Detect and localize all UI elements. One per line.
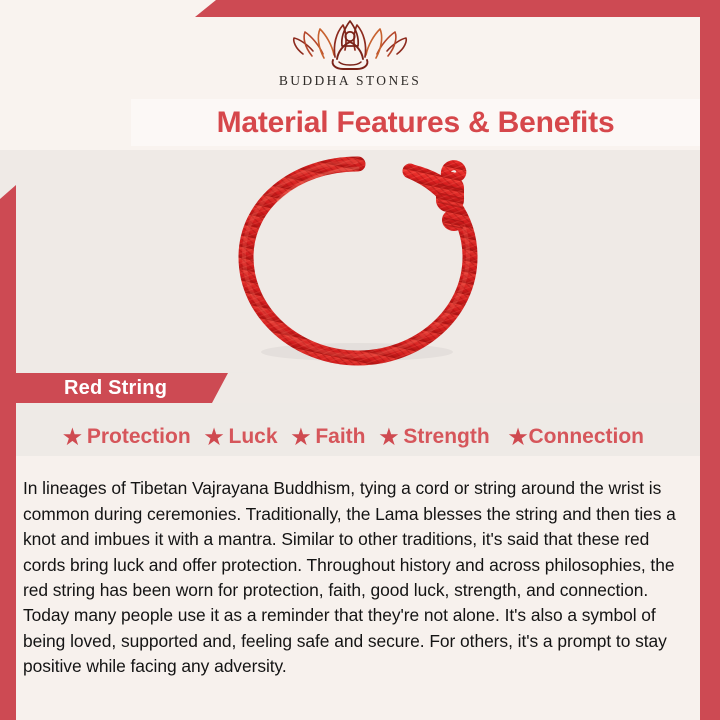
benefit-label: Protection [87,425,191,449]
material-label-banner: Red String [0,373,228,403]
title-banner: Material Features & Benefits [131,99,700,146]
brand-wordmark: BUDDHA STONES [0,73,700,89]
benefit-item-strength: ★ Strength [380,425,490,449]
benefit-item-luck: ★ Luck [205,425,278,449]
benefit-item-protection: ★ Protection [63,425,191,449]
benefit-label: Strength [403,425,489,449]
brand-logo: BUDDHA STONES [0,14,700,89]
right-accent-bar [700,17,720,720]
benefit-label: Faith [315,425,365,449]
bracelet-illustration [218,152,508,374]
benefit-item-faith: ★ Faith [292,425,366,449]
star-icon: ★ [292,427,311,448]
star-icon: ★ [63,427,82,448]
left-accent-bar [0,185,16,720]
page-title: Material Features & Benefits [217,106,615,140]
product-image-red-string-bracelet [218,152,508,374]
benefit-label: Connection [529,425,645,449]
star-icon: ★ [205,427,224,448]
benefit-item-connection: ★ Connection [509,425,644,449]
lotus-meditation-icon [291,14,409,72]
description-paragraph: In lineages of Tibetan Vajrayana Buddhis… [23,476,691,679]
star-icon: ★ [509,427,528,448]
material-label-text: Red String [64,377,167,400]
benefits-list: ★ Protection ★ Luck ★ Faith ★ Strength ★… [0,418,700,456]
benefit-label: Luck [229,425,278,449]
top-accent-bar [195,0,720,17]
star-icon: ★ [380,427,399,448]
infographic-page: BUDDHA STONES Material Features & Benefi… [0,0,720,720]
